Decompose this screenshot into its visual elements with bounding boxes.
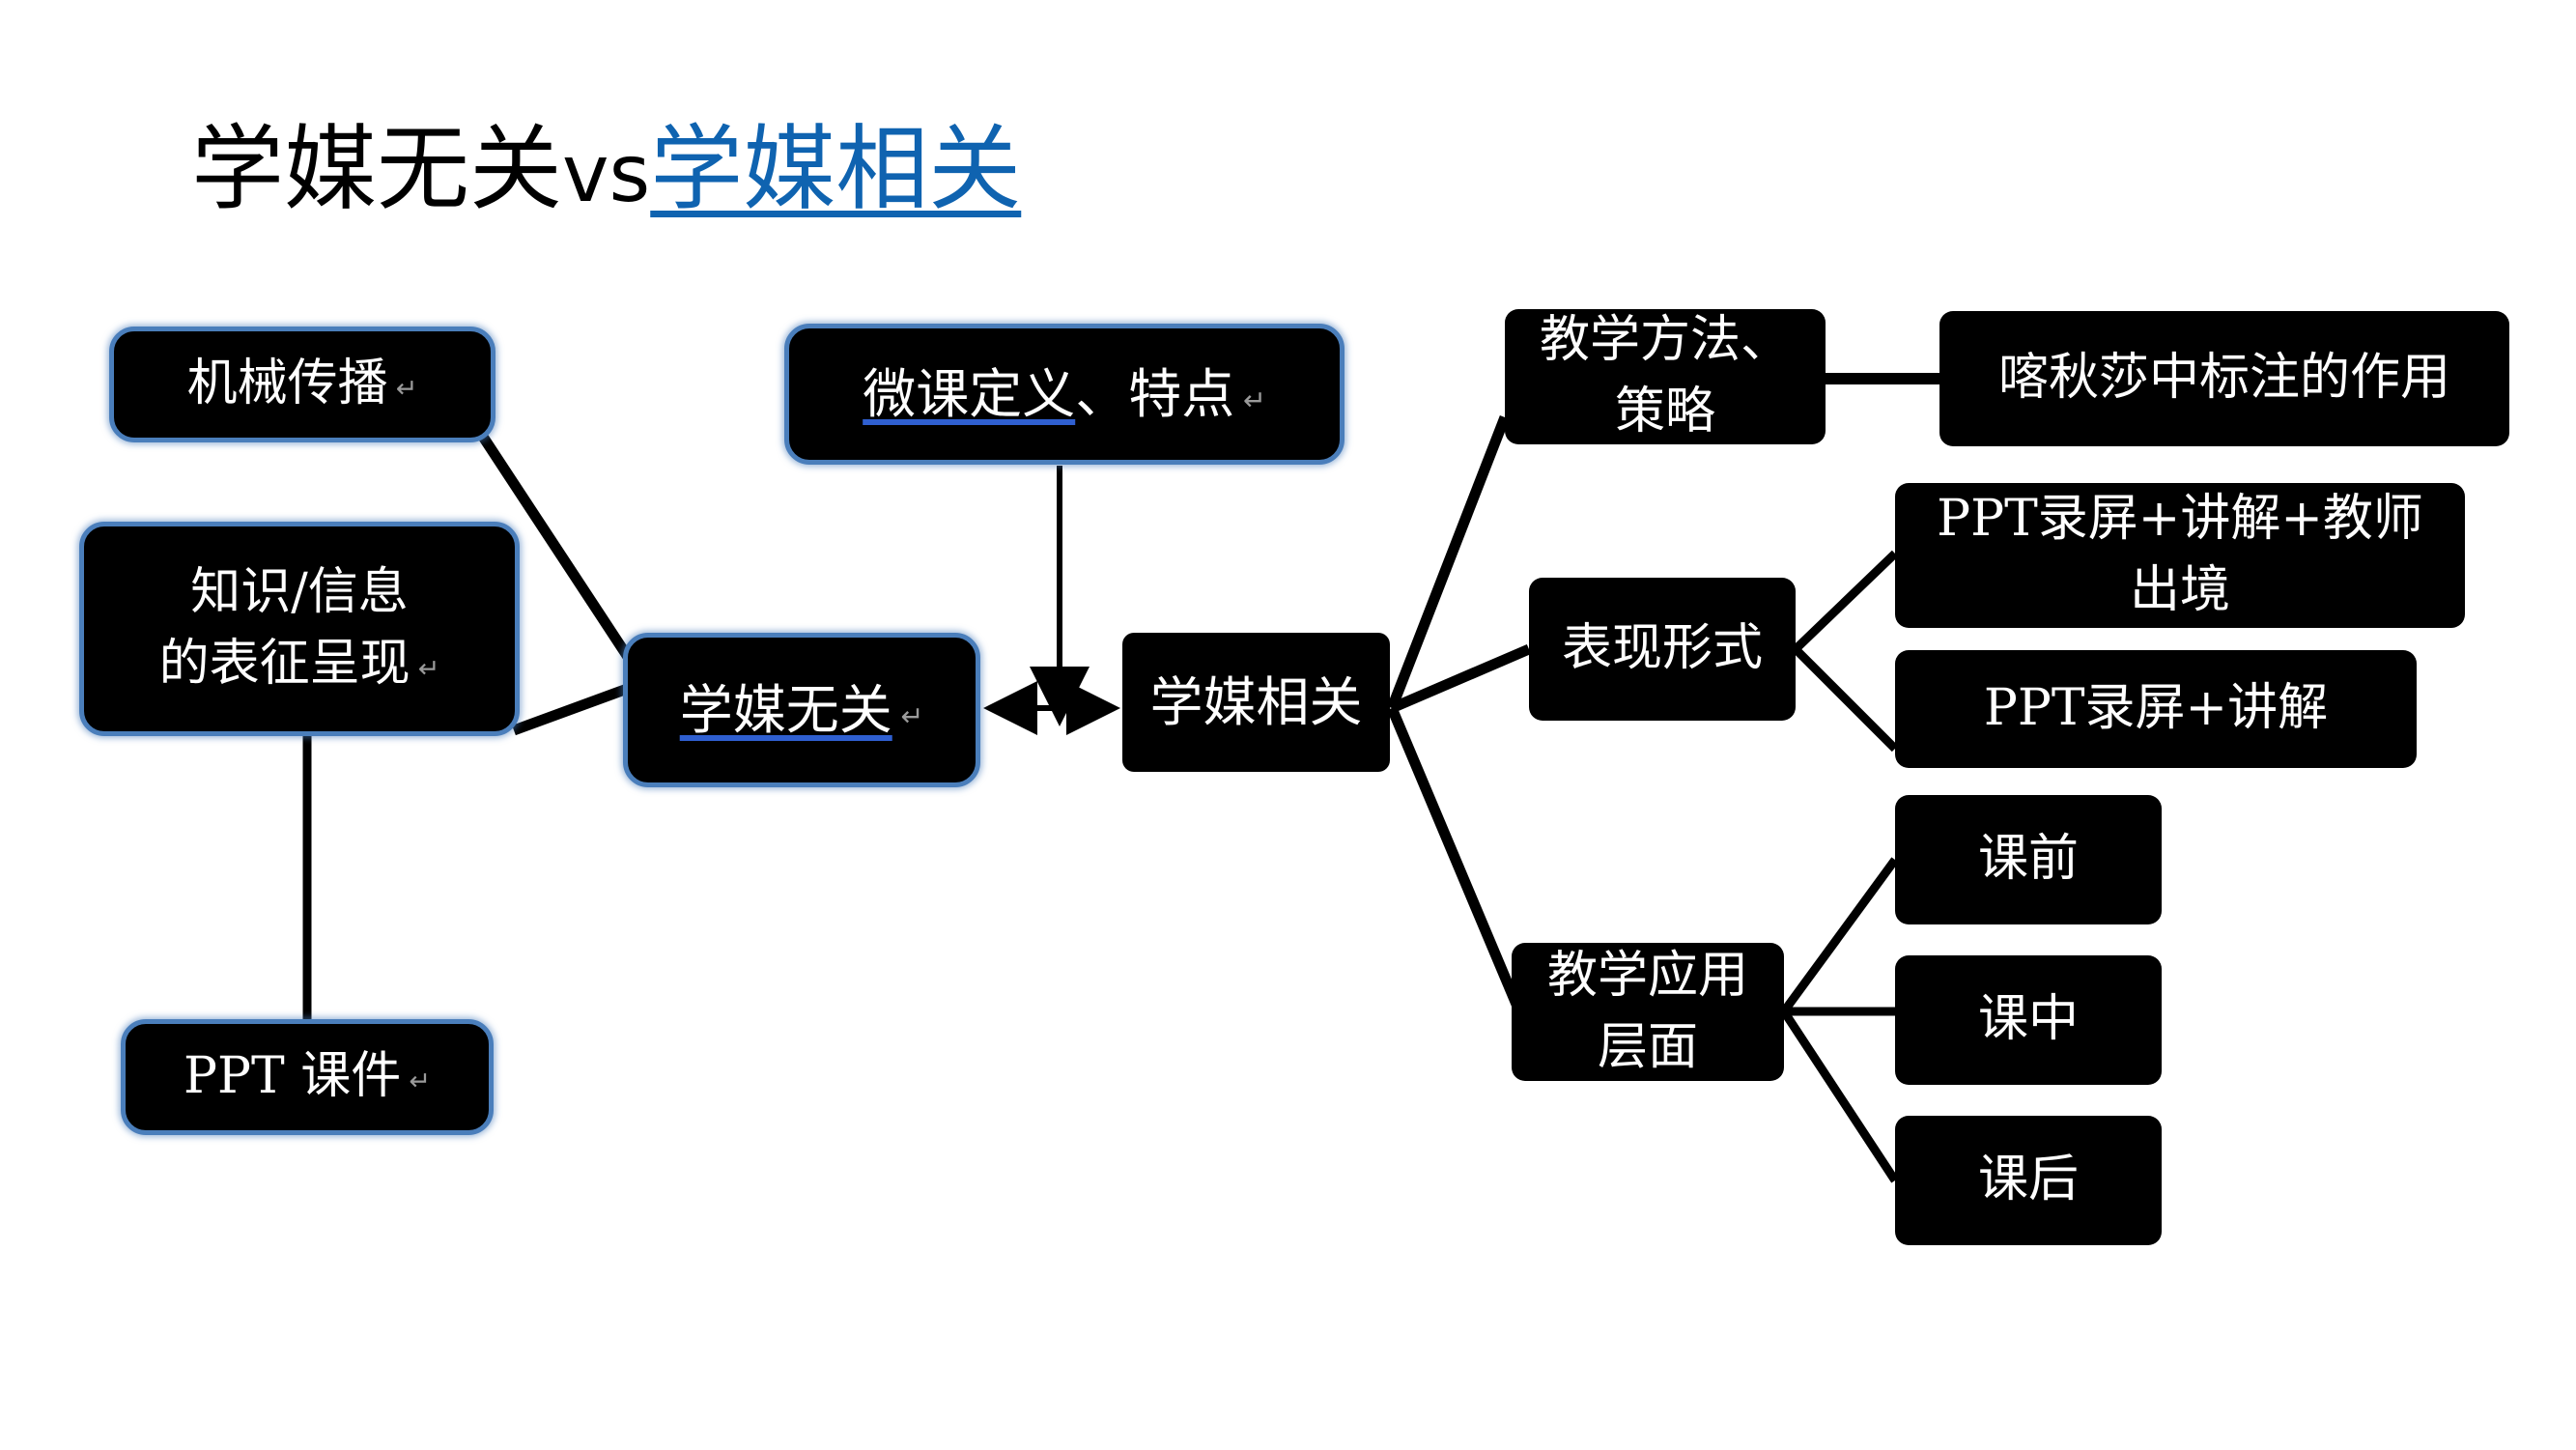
node-ppt-courseware[interactable]: PPT 课件↵ (121, 1019, 494, 1135)
title-plain-text: 学媒无关 (191, 115, 562, 223)
node-before-class[interactable]: 课前 (1895, 795, 2162, 924)
node-label: 学媒无关↵ (680, 672, 924, 748)
node-label-line-2: 的表征呈现 (159, 635, 410, 693)
node-label-underlined[interactable]: 微课定义 (863, 363, 1075, 425)
node-label: 喀秋莎中标注的作用 (1998, 343, 2450, 414)
node-label-underlined[interactable]: 学媒无关 (680, 679, 892, 741)
return-mark-icon: ↵ (410, 654, 440, 684)
connector-xiangguan-to-yingyong (1392, 708, 1517, 1007)
node-label: 微课定义、特点↵ (863, 356, 1266, 432)
node-label-line-2: 策略 (1615, 383, 1715, 441)
node-media-independent[interactable]: 学媒无关↵ (623, 633, 980, 787)
node-label: PPT 课件↵ (184, 1041, 431, 1113)
node-label: 课前 (1978, 824, 2079, 896)
node-label-line-2: 出境 (2130, 561, 2230, 619)
node-label: 课中 (1978, 984, 2079, 1056)
node-label: 课后 (1978, 1145, 2079, 1216)
slide-canvas: 学媒无关vs学媒相关 (0, 0, 2576, 1450)
node-ppt-recording-narration-teacher[interactable]: PPT录屏+讲解+教师 出境 (1895, 483, 2465, 628)
node-label: 表现形式 (1562, 613, 1763, 685)
connector-zhishi-to-wuguan (514, 688, 630, 730)
node-label-line-1: 知识/信息 (190, 563, 409, 621)
connector-biaoxian-to-pptjscj (1796, 554, 1895, 649)
connector-xiangguan-to-fangfa (1392, 417, 1505, 708)
connector-yingyong-to-keqian (1784, 860, 1895, 1011)
node-after-class[interactable]: 课后 (1895, 1116, 2162, 1245)
node-teaching-methods-strategies[interactable]: 教学方法、 策略 (1505, 309, 1826, 444)
node-label-line-2: 层面 (1598, 1018, 1698, 1076)
bidir-arrowhead-right (1066, 681, 1120, 735)
node-label: 教学方法、 策略 (1540, 309, 1791, 444)
title-link-text[interactable]: 学媒相关 (650, 115, 1021, 223)
node-camtasia-annotation-role[interactable]: 喀秋莎中标注的作用 (1939, 311, 2509, 446)
weike-down-arrowhead (1030, 667, 1090, 726)
node-teaching-application-level[interactable]: 教学应用 层面 (1512, 943, 1784, 1081)
return-mark-icon: ↵ (1234, 384, 1266, 416)
node-label: PPT录屏+讲解+教师 出境 (1937, 484, 2423, 627)
node-label-line-1: 教学方法、 (1540, 311, 1791, 369)
node-knowledge-information[interactable]: 知识/信息 的表征呈现↵ (79, 522, 520, 736)
return-mark-icon: ↵ (388, 374, 418, 404)
return-mark-icon: ↵ (401, 1066, 431, 1096)
node-label: 知识/信息 的表征呈现↵ (159, 557, 440, 700)
connector-xiangguan-to-biaoxian (1392, 649, 1529, 708)
node-label-rest: 、特点 (1075, 363, 1234, 425)
node-label: 教学应用 层面 (1547, 943, 1748, 1081)
connector-yingyong-to-kehou (1784, 1011, 1895, 1180)
node-mechanical-transmission[interactable]: 机械传播↵ (109, 327, 495, 442)
connector-biaoxian-to-pptjs (1796, 649, 1895, 749)
title-vs-text: vs (562, 128, 650, 220)
node-during-class[interactable]: 课中 (1895, 955, 2162, 1085)
node-ppt-recording-narration[interactable]: PPT录屏+讲解 (1895, 650, 2417, 768)
node-label-line-1: 教学应用 (1547, 947, 1748, 1005)
node-microlecture-definition[interactable]: 微课定义、特点↵ (784, 324, 1345, 465)
node-label: PPT录屏+讲解 (1984, 673, 2328, 745)
bidir-arrowhead-left (983, 681, 1037, 735)
node-label: 学媒相关 (1149, 665, 1362, 740)
node-label: 机械传播↵ (187, 349, 418, 420)
node-media-dependent[interactable]: 学媒相关 (1122, 633, 1390, 772)
node-presentation-form[interactable]: 表现形式 (1529, 578, 1796, 721)
return-mark-icon: ↵ (892, 699, 924, 732)
node-label-line-1: PPT录屏+讲解+教师 (1937, 490, 2423, 548)
page-title: 学媒无关vs学媒相关 (191, 116, 1021, 222)
